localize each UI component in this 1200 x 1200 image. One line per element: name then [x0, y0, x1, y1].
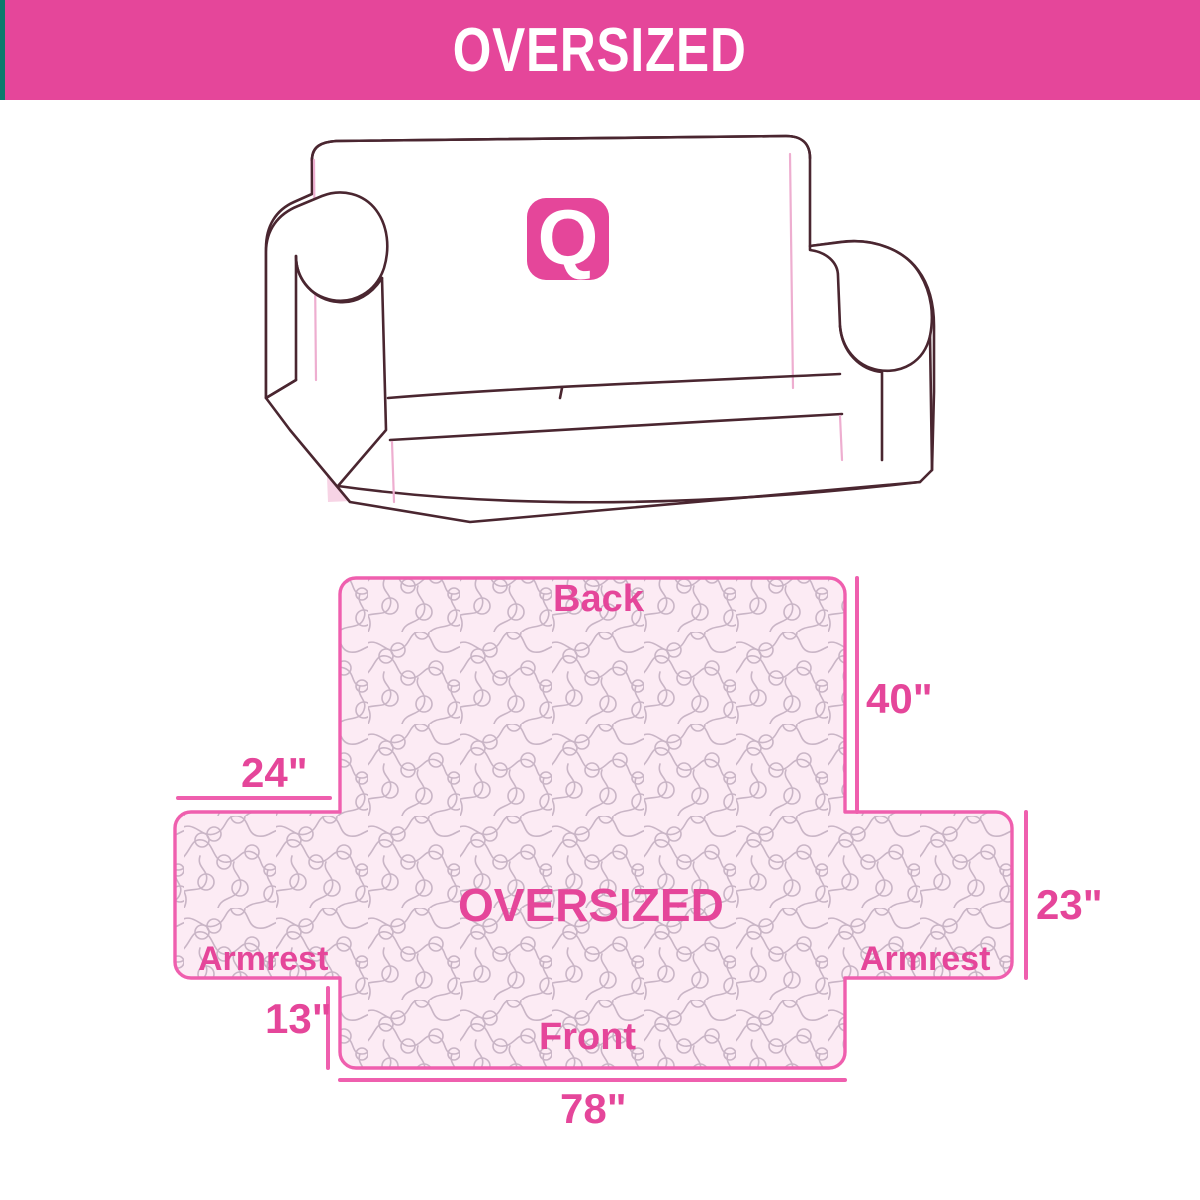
panel-label-armrest-right: Armrest — [860, 942, 990, 976]
header-accent-stripe — [0, 0, 5, 100]
dimension-diagram: Back OVERSIZED Front Armrest Armrest 40"… — [0, 540, 1200, 1140]
panel-label-back: Back — [553, 580, 644, 618]
measurement-label-78: 78" — [560, 1088, 627, 1130]
panel-label-center: OVERSIZED — [458, 882, 724, 928]
panel-label-front: Front — [539, 1018, 636, 1056]
sofa-line-art: .ln{fill:none;stroke:#4a2630;stroke-widt… — [230, 130, 990, 530]
measurement-label-40: 40" — [866, 678, 933, 720]
sofa-illustration: .ln{fill:none;stroke:#4a2630;stroke-widt… — [230, 130, 990, 530]
measurement-label-23: 23" — [1036, 884, 1103, 926]
page-root: OVERSIZED .ln{fill:none;stroke:#4a2630;s… — [0, 0, 1200, 1200]
measurement-label-24: 24" — [241, 752, 308, 794]
page-header: OVERSIZED — [0, 0, 1200, 100]
panel-label-armrest-left: Armrest — [198, 942, 328, 976]
header-title: OVERSIZED — [453, 15, 747, 86]
measurement-label-13: 13" — [265, 998, 332, 1040]
brand-logo-letter: Q — [538, 202, 599, 272]
brand-logo-badge: Q — [527, 198, 609, 280]
